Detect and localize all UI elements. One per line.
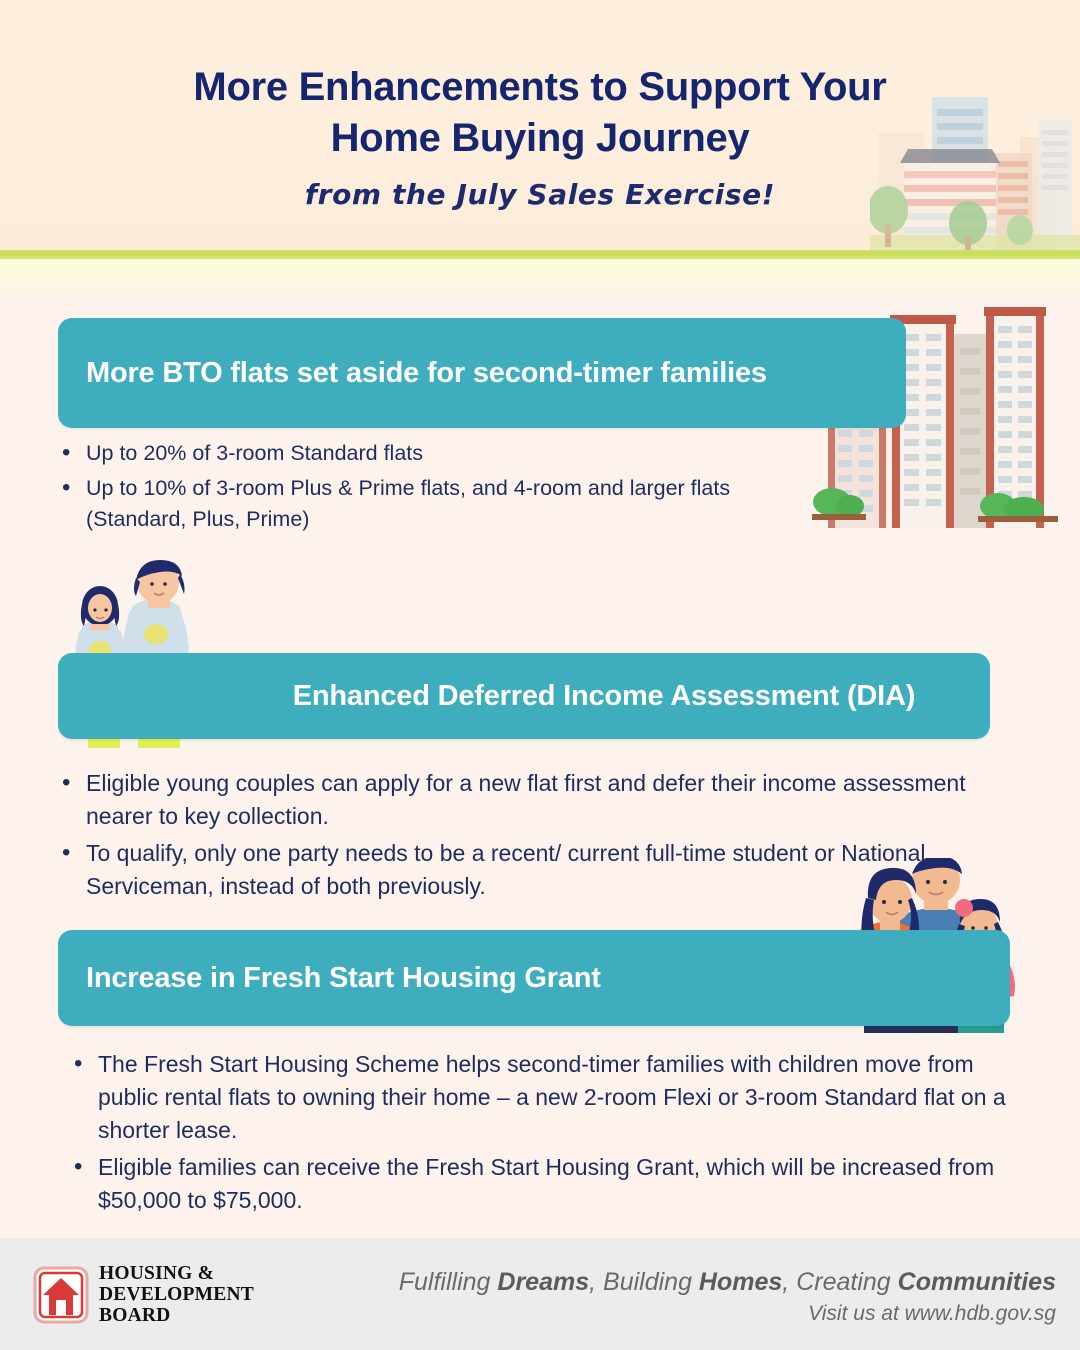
section-bullets-bto: Up to 20% of 3-room Standard flats Up to… <box>58 438 818 539</box>
footer-tagline: Fulfilling Dreams, Building Homes, Creat… <box>399 1266 1056 1299</box>
page-title: More Enhancements to Support Your Home B… <box>0 62 1080 164</box>
list-item: The Fresh Start Housing Scheme helps sec… <box>70 1048 1010 1147</box>
section-banner-fresh-start: Increase in Fresh Start Housing Grant <box>58 930 1010 1026</box>
section-banner-dia: Enhanced Deferred Income Assessment (DIA… <box>58 653 990 739</box>
tagline-bold-dreams: Dreams <box>497 1268 589 1296</box>
footer-text-block: Fulfilling Dreams, Building Homes, Creat… <box>399 1266 1056 1329</box>
hdb-house-arrow-icon <box>33 1266 89 1324</box>
page-subtitle: from the July Sales Exercise! <box>0 178 1080 211</box>
hdb-logo-line1: HOUSING & <box>99 1263 254 1284</box>
hdb-logo-line2: DEVELOPMENT <box>99 1284 254 1305</box>
section-bullets-fresh-start: The Fresh Start Housing Scheme helps sec… <box>70 1048 1010 1221</box>
list-item: Up to 20% of 3-room Standard flats <box>58 438 818 469</box>
section-banner-bto: More BTO flats set aside for second-time… <box>58 318 906 428</box>
section-banner-bto-title: More BTO flats set aside for second-time… <box>58 354 795 392</box>
page-title-line2: Home Buying Journey <box>331 116 750 160</box>
hdb-logo-line3: BOARD <box>99 1305 254 1326</box>
list-item: Eligible families can receive the Fresh … <box>70 1151 1010 1217</box>
list-item: Eligible young couples can apply for a n… <box>58 767 1008 833</box>
hdb-logo-text: HOUSING & DEVELOPMENT BOARD <box>99 1263 254 1326</box>
list-item: Up to 10% of 3-room Plus & Prime flats, … <box>58 473 818 535</box>
header-divider-fade <box>0 259 1080 299</box>
header-banner: More Enhancements to Support Your Home B… <box>0 0 1080 250</box>
page-title-line1: More Enhancements to Support Your <box>193 65 886 109</box>
infographic-page: More Enhancements to Support Your Home B… <box>0 0 1080 1350</box>
hdb-logo: HOUSING & DEVELOPMENT BOARD <box>33 1263 254 1326</box>
section-banner-fresh-start-title: Increase in Fresh Start Housing Grant <box>58 959 629 997</box>
footer-website-url: Visit us at www.hdb.gov.sg <box>399 1299 1056 1329</box>
section-banner-dia-title: Enhanced Deferred Income Assessment (DIA… <box>133 677 915 715</box>
tagline-part-3: , Creating <box>782 1268 897 1296</box>
footer: HOUSING & DEVELOPMENT BOARD Fulfilling D… <box>0 1238 1080 1350</box>
tagline-bold-homes: Homes <box>699 1268 782 1296</box>
tagline-part-2: , Building <box>589 1268 699 1296</box>
tagline-part-1: Fulfilling <box>399 1268 498 1296</box>
header-divider <box>0 250 1080 259</box>
tagline-bold-communities: Communities <box>898 1268 1056 1296</box>
